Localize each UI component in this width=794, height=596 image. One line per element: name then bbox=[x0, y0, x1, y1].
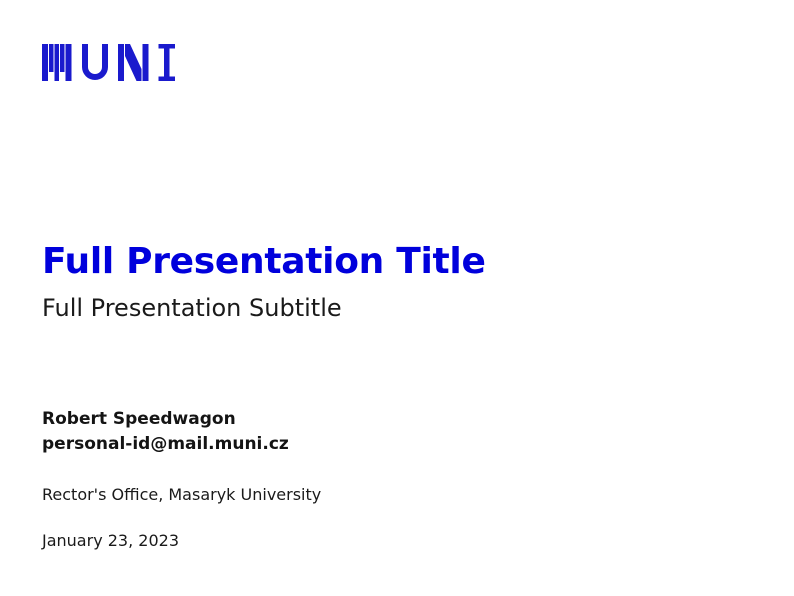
title-block: Full Presentation Title Full Presentatio… bbox=[42, 243, 742, 321]
author-email: personal-id@mail.muni.cz bbox=[42, 432, 742, 457]
presentation-date: January 23, 2023 bbox=[42, 531, 179, 550]
presentation-title: Full Presentation Title bbox=[42, 243, 742, 281]
title-slide: Full Presentation Title Full Presentatio… bbox=[0, 0, 794, 596]
muni-logo bbox=[42, 44, 175, 81]
affiliation: Rector's Office, Masaryk University bbox=[42, 485, 321, 504]
author-name: Robert Speedwagon bbox=[42, 407, 742, 432]
presentation-subtitle: Full Presentation Subtitle bbox=[42, 295, 742, 321]
author-block: Robert Speedwagon personal-id@mail.muni.… bbox=[42, 407, 742, 456]
